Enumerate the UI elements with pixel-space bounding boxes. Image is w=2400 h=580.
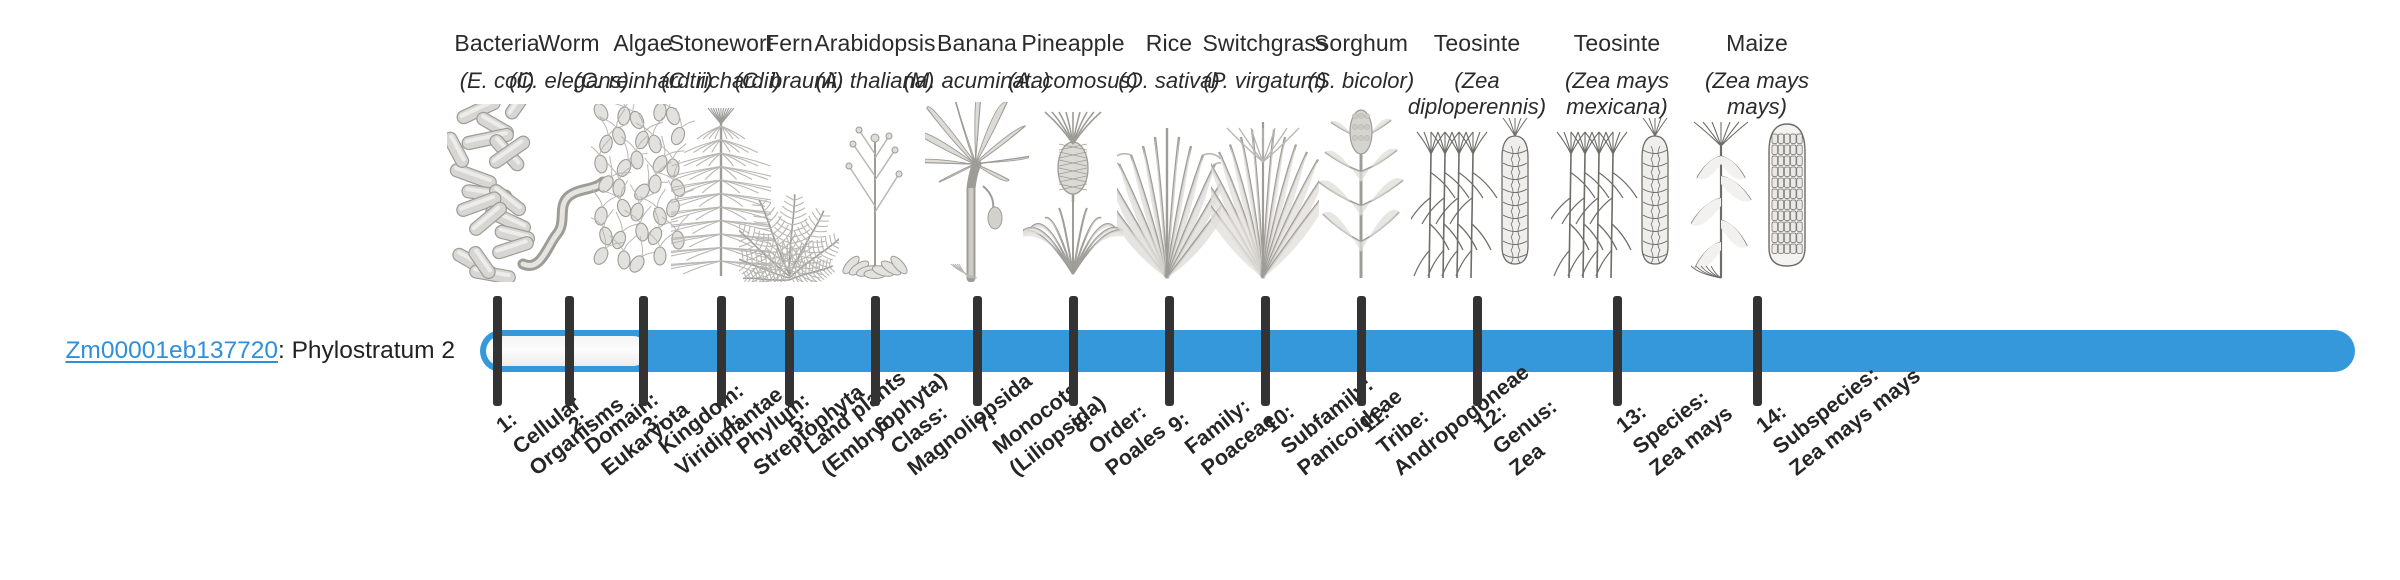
phylostratum-tick-10[interactable]	[1261, 296, 1270, 406]
phylostratum-tick-9[interactable]	[1165, 296, 1174, 406]
phylostratum-tick-5[interactable]	[785, 296, 794, 406]
taxon-common-name: Teosinte	[1542, 30, 1692, 56]
phylostratum-tick-6[interactable]	[871, 296, 880, 406]
phylostratum-tick-14[interactable]	[1753, 296, 1762, 406]
maize-illustration	[1682, 172, 1832, 282]
phylostratum-value: Phylostratum 2	[292, 337, 455, 364]
phylostratum-tick-1[interactable]	[493, 296, 502, 406]
phylostratum-tick-12[interactable]	[1473, 296, 1482, 406]
taxon-common-name: Teosinte	[1402, 30, 1552, 56]
phylostratum-timeline: Zm00001eb137720: Phylostratum 2 Bacteria…	[0, 0, 2400, 580]
gene-accession-link[interactable]: Zm00001eb137720	[65, 337, 278, 364]
phylostratum-tick-7[interactable]	[973, 296, 982, 406]
phylostratum-tick-3[interactable]	[639, 296, 648, 406]
label-separator: :	[278, 337, 292, 364]
phylostratum-tick-2[interactable]	[565, 296, 574, 406]
taxon-common-name: Maize	[1682, 30, 1832, 56]
teosinte-illustration	[1542, 172, 1692, 282]
teosinte-illustration	[1402, 172, 1552, 282]
phylostratum-tick-11[interactable]	[1357, 296, 1366, 406]
phylostratum-tick-4[interactable]	[717, 296, 726, 406]
gene-phylostratum-label: Zm00001eb137720: Phylostratum 2	[0, 336, 455, 365]
phylostratum-tick-8[interactable]	[1069, 296, 1078, 406]
phylostratum-tick-13[interactable]	[1613, 296, 1622, 406]
